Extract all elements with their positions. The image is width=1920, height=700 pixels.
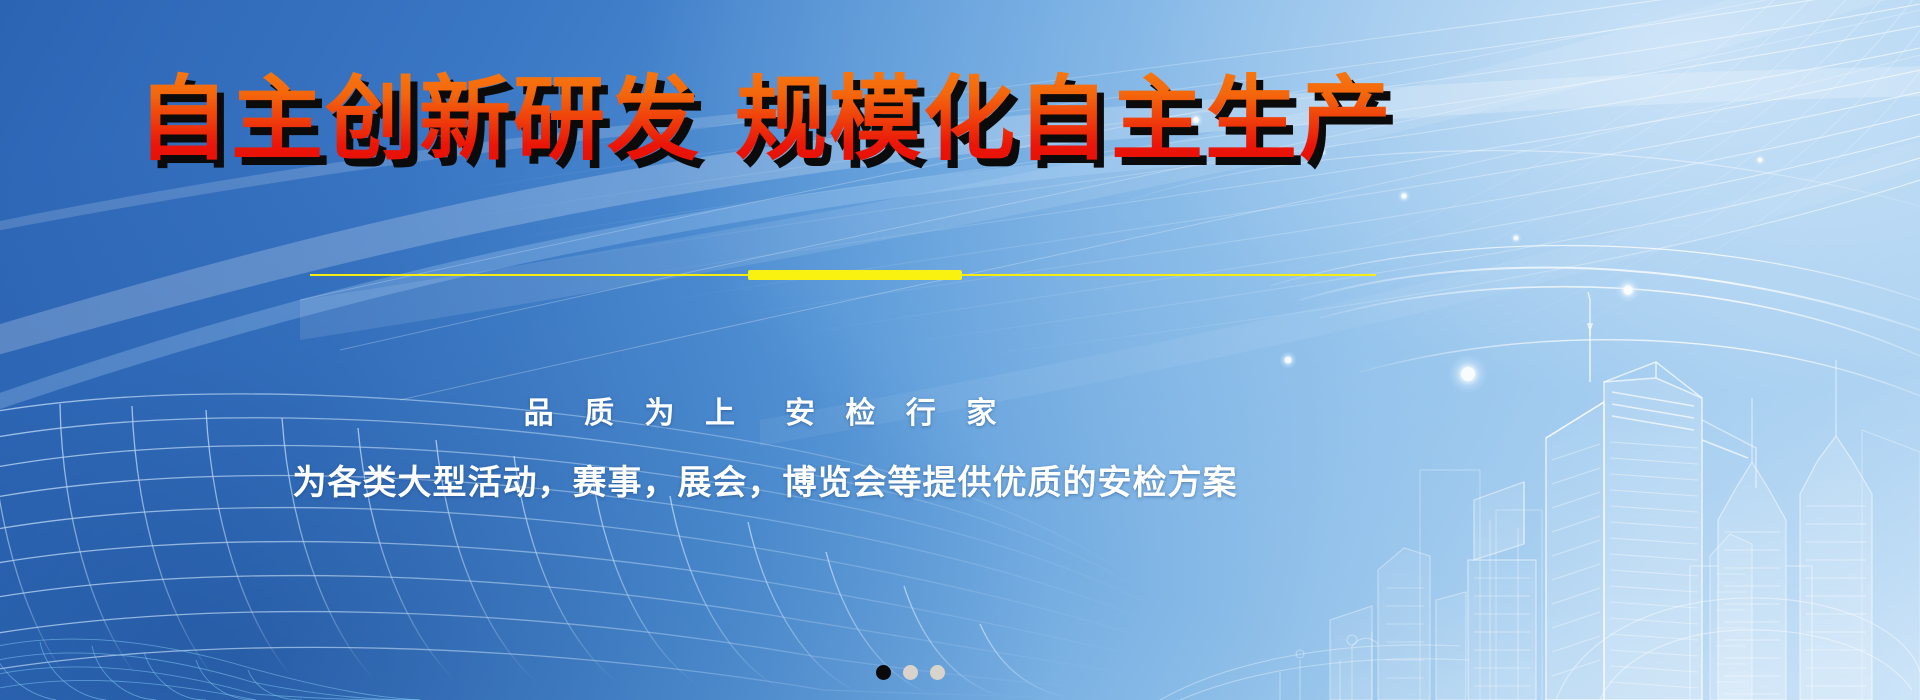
banner-title: 自主创新研发 规模化自主生产 自主创新研发 规模化自主生产	[0, 74, 1530, 166]
banner-title-stack: 自主创新研发 规模化自主生产 自主创新研发 规模化自主生产	[137, 74, 1393, 166]
hero-banner: 自主创新研发 规模化自主生产 自主创新研发 规模化自主生产 品 质 为 上 安 …	[0, 0, 1920, 700]
carousel-pagination[interactable]	[876, 662, 968, 682]
carousel-dot-1[interactable]	[876, 665, 891, 680]
carousel-dot-2[interactable]	[903, 665, 918, 680]
banner-subtitle: 品 质 为 上 安 检 行 家	[0, 388, 1530, 432]
carousel-dot-3[interactable]	[930, 665, 945, 680]
banner-description: 为各类大型活动，赛事，展会，博览会等提供优质的安检方案	[0, 455, 1530, 504]
yellow-divider	[310, 269, 1376, 283]
divider-center-block	[748, 270, 962, 280]
banner-title-text: 自主创新研发 规模化自主生产	[137, 66, 1393, 173]
